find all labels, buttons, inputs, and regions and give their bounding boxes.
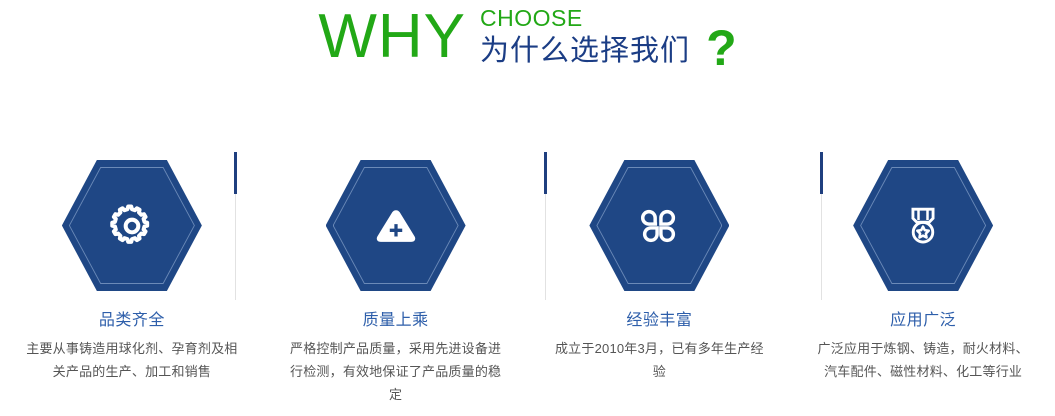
card-title: 质量上乘 — [363, 311, 429, 331]
headline-center-column: CHOOSE 为什么选择我们 — [480, 2, 690, 69]
card-title: 应用广泛 — [890, 311, 956, 331]
card-description: 严格控制产品质量，采用先进设备进行检测，有效地保证了产品质量的稳定 — [290, 337, 502, 406]
divider-line-segment — [821, 194, 822, 300]
card-title: 品类齐全 — [99, 311, 165, 331]
feature-card-experience: 经验丰富 成立于2010年3月，已有多年生产经验 — [528, 150, 792, 416]
header-inner: WHY CHOOSE 为什么选择我们 ? — [318, 2, 736, 76]
card-description: 主要从事铸造用球化剂、孕育剂及相关产品的生产、加工和销售 — [26, 337, 238, 383]
divider-accent-segment — [544, 152, 547, 194]
gear-icon — [109, 203, 155, 249]
hexagon-badge — [853, 160, 993, 291]
card-title: 经验丰富 — [626, 311, 692, 331]
headline-why: WHY — [318, 2, 466, 72]
feature-card-quality: 质量上乘 严格控制产品质量，采用先进设备进行检测，有效地保证了产品质量的稳定 — [264, 150, 528, 416]
hexagon-badge — [589, 160, 729, 291]
divider-line-segment — [545, 194, 546, 300]
divider-accent-segment — [234, 152, 237, 194]
feature-cards-row: 品类齐全 主要从事铸造用球化剂、孕育剂及相关产品的生产、加工和销售 质量上乘 严… — [0, 150, 1055, 416]
headline-choose: CHOOSE — [480, 5, 583, 31]
hexagon-badge — [62, 160, 202, 291]
four-petal-icon — [636, 203, 682, 249]
feature-card-applications: 应用广泛 广泛应用于炼钢、铸造，耐火材料、汽车配件、磁性材料、化工等行业 — [791, 150, 1055, 416]
divider-3 — [820, 152, 823, 300]
headline-question-mark: ? — [706, 2, 737, 76]
feature-card-product-range: 品类齐全 主要从事铸造用球化剂、孕育剂及相关产品的生产、加工和销售 — [0, 150, 264, 416]
divider-1 — [234, 152, 237, 300]
triangle-plus-icon — [373, 203, 419, 249]
divider-2 — [544, 152, 547, 300]
why-choose-us-section: WHY CHOOSE 为什么选择我们 ? 品类齐全 主要从事铸造用球化剂、孕育剂… — [0, 0, 1055, 416]
divider-accent-segment — [820, 152, 823, 194]
card-description: 成立于2010年3月，已有多年生产经验 — [553, 337, 765, 383]
hexagon-badge — [326, 160, 466, 291]
card-description: 广泛应用于炼钢、铸造，耐火材料、汽车配件、磁性材料、化工等行业 — [817, 337, 1029, 383]
divider-line-segment — [235, 194, 236, 300]
headline-chinese-subtitle: 为什么选择我们 — [480, 33, 690, 69]
medal-icon — [900, 203, 946, 249]
section-header: WHY CHOOSE 为什么选择我们 ? — [0, 0, 1055, 100]
